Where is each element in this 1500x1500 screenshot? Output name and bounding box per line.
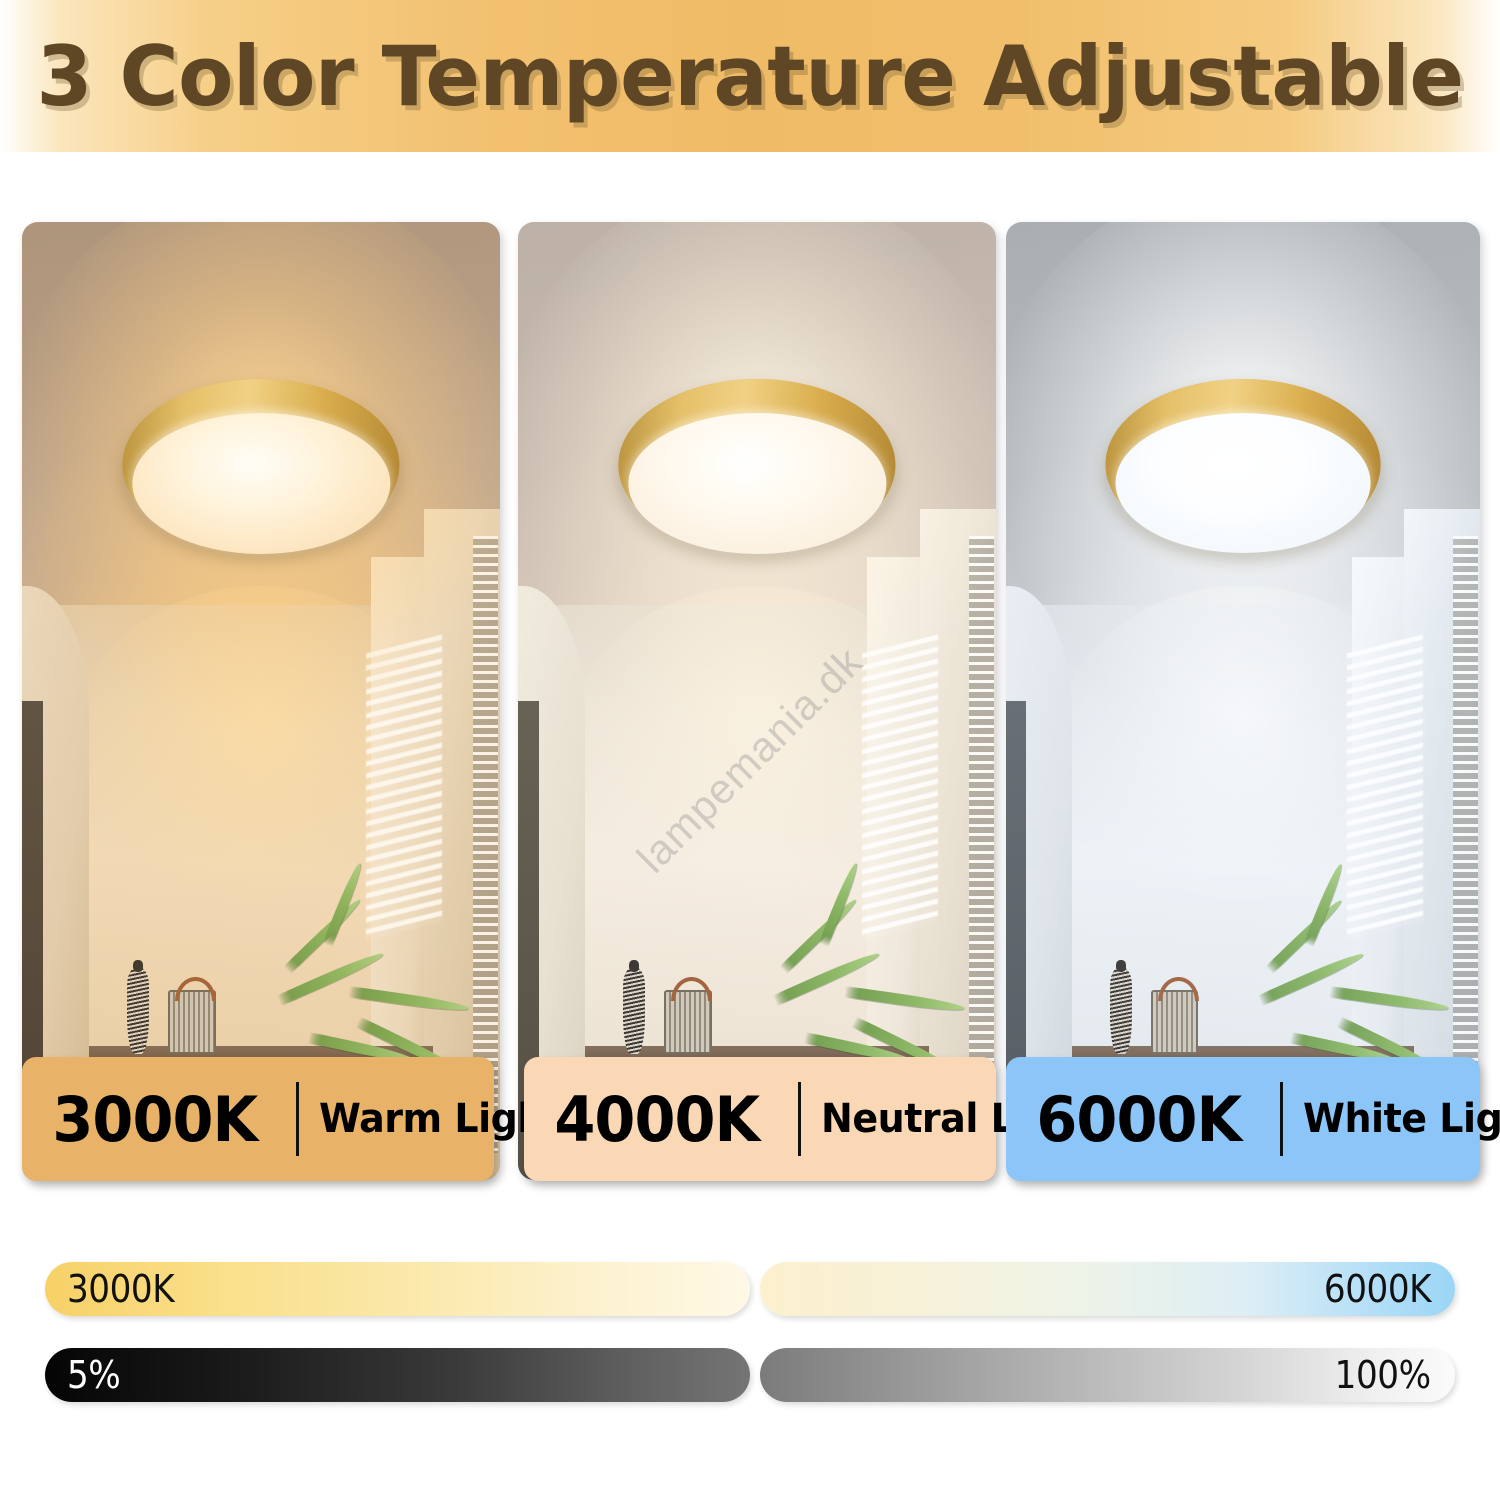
decor-vase: [1110, 967, 1132, 1053]
kelvin-value: 4000K: [524, 1083, 759, 1156]
kelvin-value: 6000K: [1006, 1083, 1241, 1156]
kelvin-value: 3000K: [22, 1083, 257, 1156]
fixture-gold-rim: [618, 379, 895, 551]
scale-min-label: 3000K: [67, 1267, 174, 1311]
scene-image-3000k: [22, 222, 500, 1180]
label-3000k: 3000K Warm Light: [22, 1057, 494, 1181]
decor-plant: [757, 864, 977, 1075]
decor-plant: [1243, 864, 1461, 1075]
page-title: 3 Color Temperature Adjustable: [23, 0, 1478, 152]
label-divider: [296, 1082, 299, 1156]
label-4000k: 4000K Neutral Light: [524, 1057, 996, 1181]
ceiling-light-fixture: [122, 379, 399, 551]
fixture-gold-rim: [1106, 379, 1381, 549]
ceiling-light-fixture: [1106, 379, 1381, 549]
scene-image-4000k: [518, 222, 996, 1180]
light-type-name: White Light: [1303, 1096, 1500, 1142]
decor-vase: [127, 967, 149, 1053]
decor-basket: [1151, 990, 1198, 1053]
fixture-diffuser: [628, 413, 886, 554]
label-divider: [1280, 1082, 1283, 1156]
decor-basket: [168, 990, 216, 1053]
panel-3000k[interactable]: [22, 222, 500, 1180]
scene-image-6000k: [1006, 222, 1480, 1180]
label-divider: [798, 1082, 801, 1156]
decor-basket: [664, 990, 712, 1053]
product-infographic: 3 Color Temperature Adjustable: [0, 0, 1500, 1500]
decor-vase: [623, 967, 645, 1053]
fixture-diffuser: [1115, 413, 1371, 553]
fixture-gold-rim: [122, 379, 399, 551]
scale-max-label: 6000K: [1324, 1267, 1431, 1311]
panel-row: [0, 222, 1500, 1182]
color-temperature-scale-left: 3000K: [45, 1262, 750, 1316]
panel-6000k[interactable]: [1006, 222, 1480, 1180]
dimming-max-label: 100%: [1335, 1353, 1431, 1397]
color-temperature-scale-right: 6000K: [760, 1262, 1455, 1316]
panel-4000k[interactable]: [518, 222, 996, 1180]
label-6000k: 6000K White Light: [1006, 1057, 1480, 1181]
decor-plant: [261, 864, 481, 1075]
fixture-diffuser: [132, 413, 390, 554]
ceiling-light-fixture: [618, 379, 895, 551]
dimming-scale-left: 5%: [45, 1348, 750, 1402]
dimming-scale-right: 100%: [760, 1348, 1455, 1402]
dimming-min-label: 5%: [67, 1353, 120, 1397]
